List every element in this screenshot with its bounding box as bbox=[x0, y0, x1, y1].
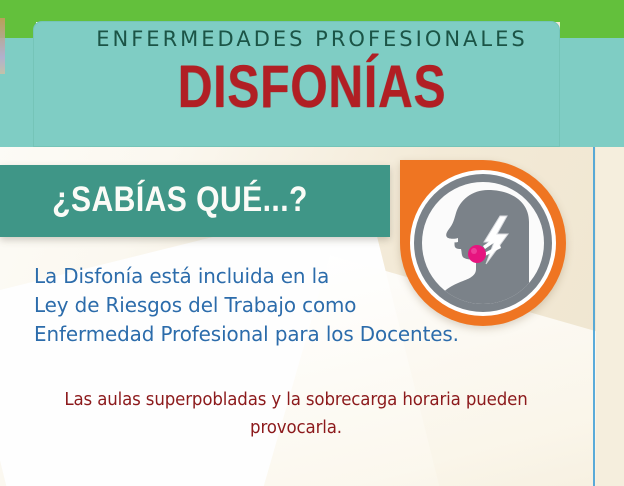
poster-headline: DISFONÍAS bbox=[62, 55, 561, 119]
green-top-band bbox=[0, 0, 624, 22]
infographic-poster: ENFERMEDADES PROFESIONALES DISFONÍAS ¿SA… bbox=[0, 0, 624, 486]
paragraph-blue-line-1: La Disfonía está incluida en la bbox=[34, 262, 538, 291]
poster-kicker: ENFERMEDADES PROFESIONALES bbox=[0, 27, 624, 51]
paragraph-blue-line-3: Enfermedad Profesional para los Docentes… bbox=[34, 320, 538, 349]
question-banner-label: ¿SABÍAS QUÉ...? bbox=[25, 180, 335, 220]
pain-point-dot bbox=[468, 245, 486, 263]
teal-header-fill-left bbox=[0, 38, 36, 147]
left-edge-strip bbox=[0, 18, 5, 74]
paragraph-blue-line-2: Ley de Riesgos del Trabajo como bbox=[34, 291, 538, 320]
pain-point-dot-highlight bbox=[471, 248, 477, 254]
paragraph-blue: La Disfonía está incluida en la Ley de R… bbox=[34, 262, 538, 349]
paragraph-red: Las aulas superpobladas y la sobrecarga … bbox=[55, 386, 538, 442]
teal-header-fill-right bbox=[556, 38, 624, 147]
